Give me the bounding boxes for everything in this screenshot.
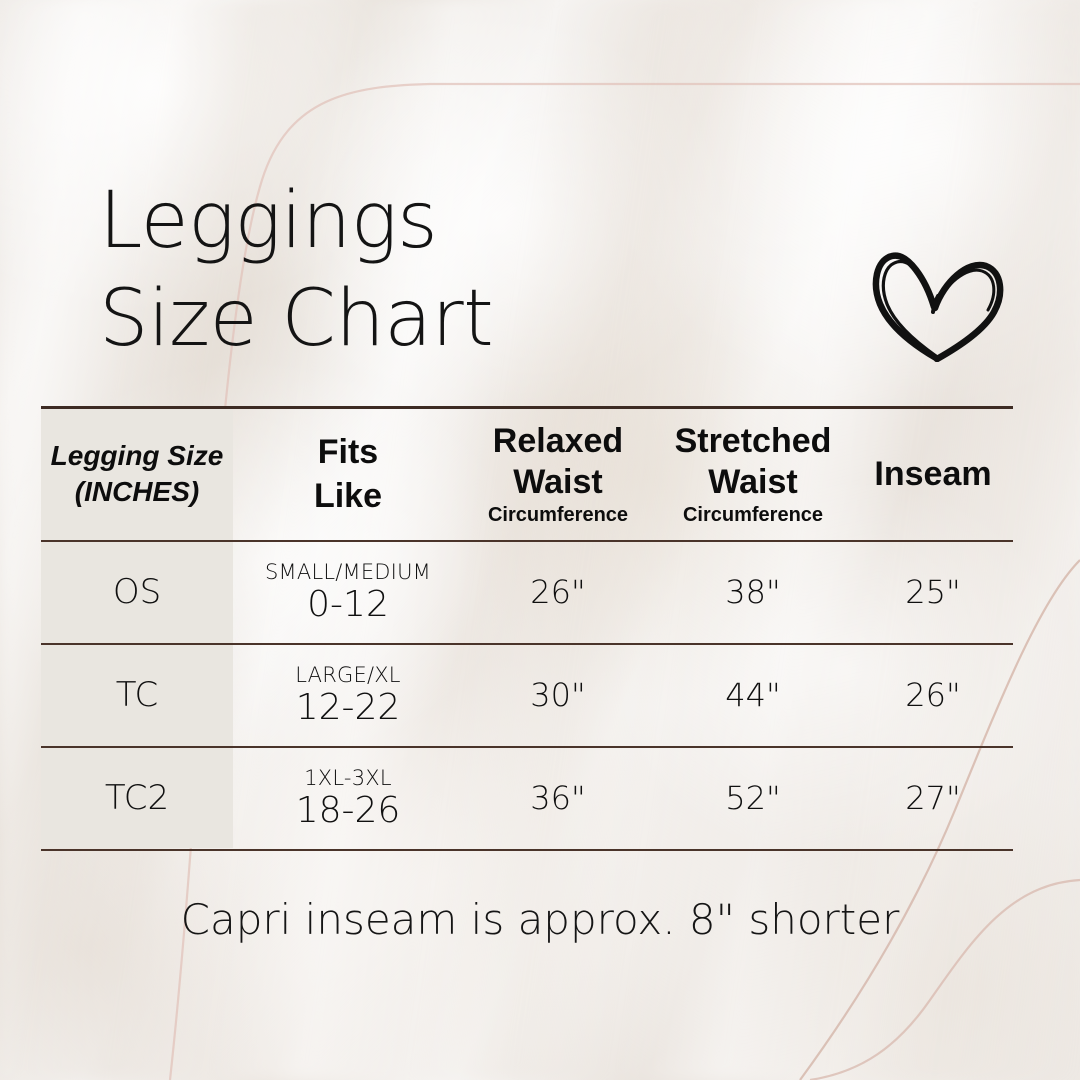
column-header-stretched-waist-sub: Circumference <box>653 503 853 527</box>
cell-fits-like-label: 1XL-3XL <box>233 768 463 789</box>
cell-fits-like-range: 12-22 <box>233 690 463 726</box>
cell-legging-size: OS <box>41 541 233 644</box>
column-header-fits-like-line1: Fits <box>318 433 378 471</box>
column-header-legging-size-line2: (INCHES) <box>75 476 199 507</box>
cell-fits-like-range: 18-26 <box>233 793 463 829</box>
column-header-inseam-line1: Inseam <box>874 455 991 493</box>
page-title-line-2: Size Chart <box>99 270 719 368</box>
column-header-stretched-waist-line2: Waist <box>708 463 797 501</box>
cell-relaxed-waist: 30" <box>463 644 653 747</box>
column-header-relaxed-waist-line1: Relaxed <box>493 422 623 460</box>
cell-fits-like: LARGE/XL 12-22 <box>233 644 463 747</box>
column-header-fits-like-line2: Like <box>314 477 382 515</box>
column-header-stretched-waist: Stretched Waist Circumference <box>653 408 853 541</box>
cell-inseam: 26" <box>853 644 1013 747</box>
cell-legging-size: TC2 <box>41 747 233 850</box>
cell-relaxed-waist: 26" <box>463 541 653 644</box>
column-header-relaxed-waist: Relaxed Waist Circumference <box>463 408 653 541</box>
cell-fits-like-label: LARGE/XL <box>233 665 463 686</box>
column-header-relaxed-waist-sub: Circumference <box>463 503 653 527</box>
column-header-stretched-waist-line1: Stretched <box>675 422 832 460</box>
page-title-line-1: Leggings <box>99 172 719 270</box>
cell-fits-like-range: 0-12 <box>233 587 463 623</box>
cell-fits-like-label: SMALL/MEDIUM <box>233 562 463 583</box>
table-row: TC LARGE/XL 12-22 30" 44" 26" <box>41 644 1013 747</box>
table-row: OS SMALL/MEDIUM 0-12 26" 38" 25" <box>41 541 1013 644</box>
column-header-legging-size-line1: Legging Size <box>51 440 224 471</box>
column-header-relaxed-waist-line2: Waist <box>513 463 602 501</box>
cell-fits-like: SMALL/MEDIUM 0-12 <box>233 541 463 644</box>
table-header-row: Legging Size (INCHES) Fits Like Relaxed … <box>41 408 1013 541</box>
cell-legging-size: TC <box>41 644 233 747</box>
cell-relaxed-waist: 36" <box>463 747 653 850</box>
footer-note: Capri inseam is approx. 8" shorter <box>0 895 1080 944</box>
page-title: Leggings Size Chart <box>99 172 719 368</box>
column-header-fits-like: Fits Like <box>233 408 463 541</box>
table-body: OS SMALL/MEDIUM 0-12 26" 38" 25" TC LARG… <box>41 541 1013 850</box>
column-header-legging-size: Legging Size (INCHES) <box>41 408 233 541</box>
table: Legging Size (INCHES) Fits Like Relaxed … <box>41 406 1013 851</box>
column-header-inseam: Inseam <box>853 408 1013 541</box>
cell-inseam: 27" <box>853 747 1013 850</box>
table-header: Legging Size (INCHES) Fits Like Relaxed … <box>41 408 1013 541</box>
size-chart-table: Legging Size (INCHES) Fits Like Relaxed … <box>41 406 1013 851</box>
cell-stretched-waist: 52" <box>653 747 853 850</box>
cell-stretched-waist: 44" <box>653 644 853 747</box>
heart-icon <box>864 222 1014 362</box>
cell-inseam: 25" <box>853 541 1013 644</box>
cell-stretched-waist: 38" <box>653 541 853 644</box>
cell-fits-like: 1XL-3XL 18-26 <box>233 747 463 850</box>
table-row: TC2 1XL-3XL 18-26 36" 52" 27" <box>41 747 1013 850</box>
